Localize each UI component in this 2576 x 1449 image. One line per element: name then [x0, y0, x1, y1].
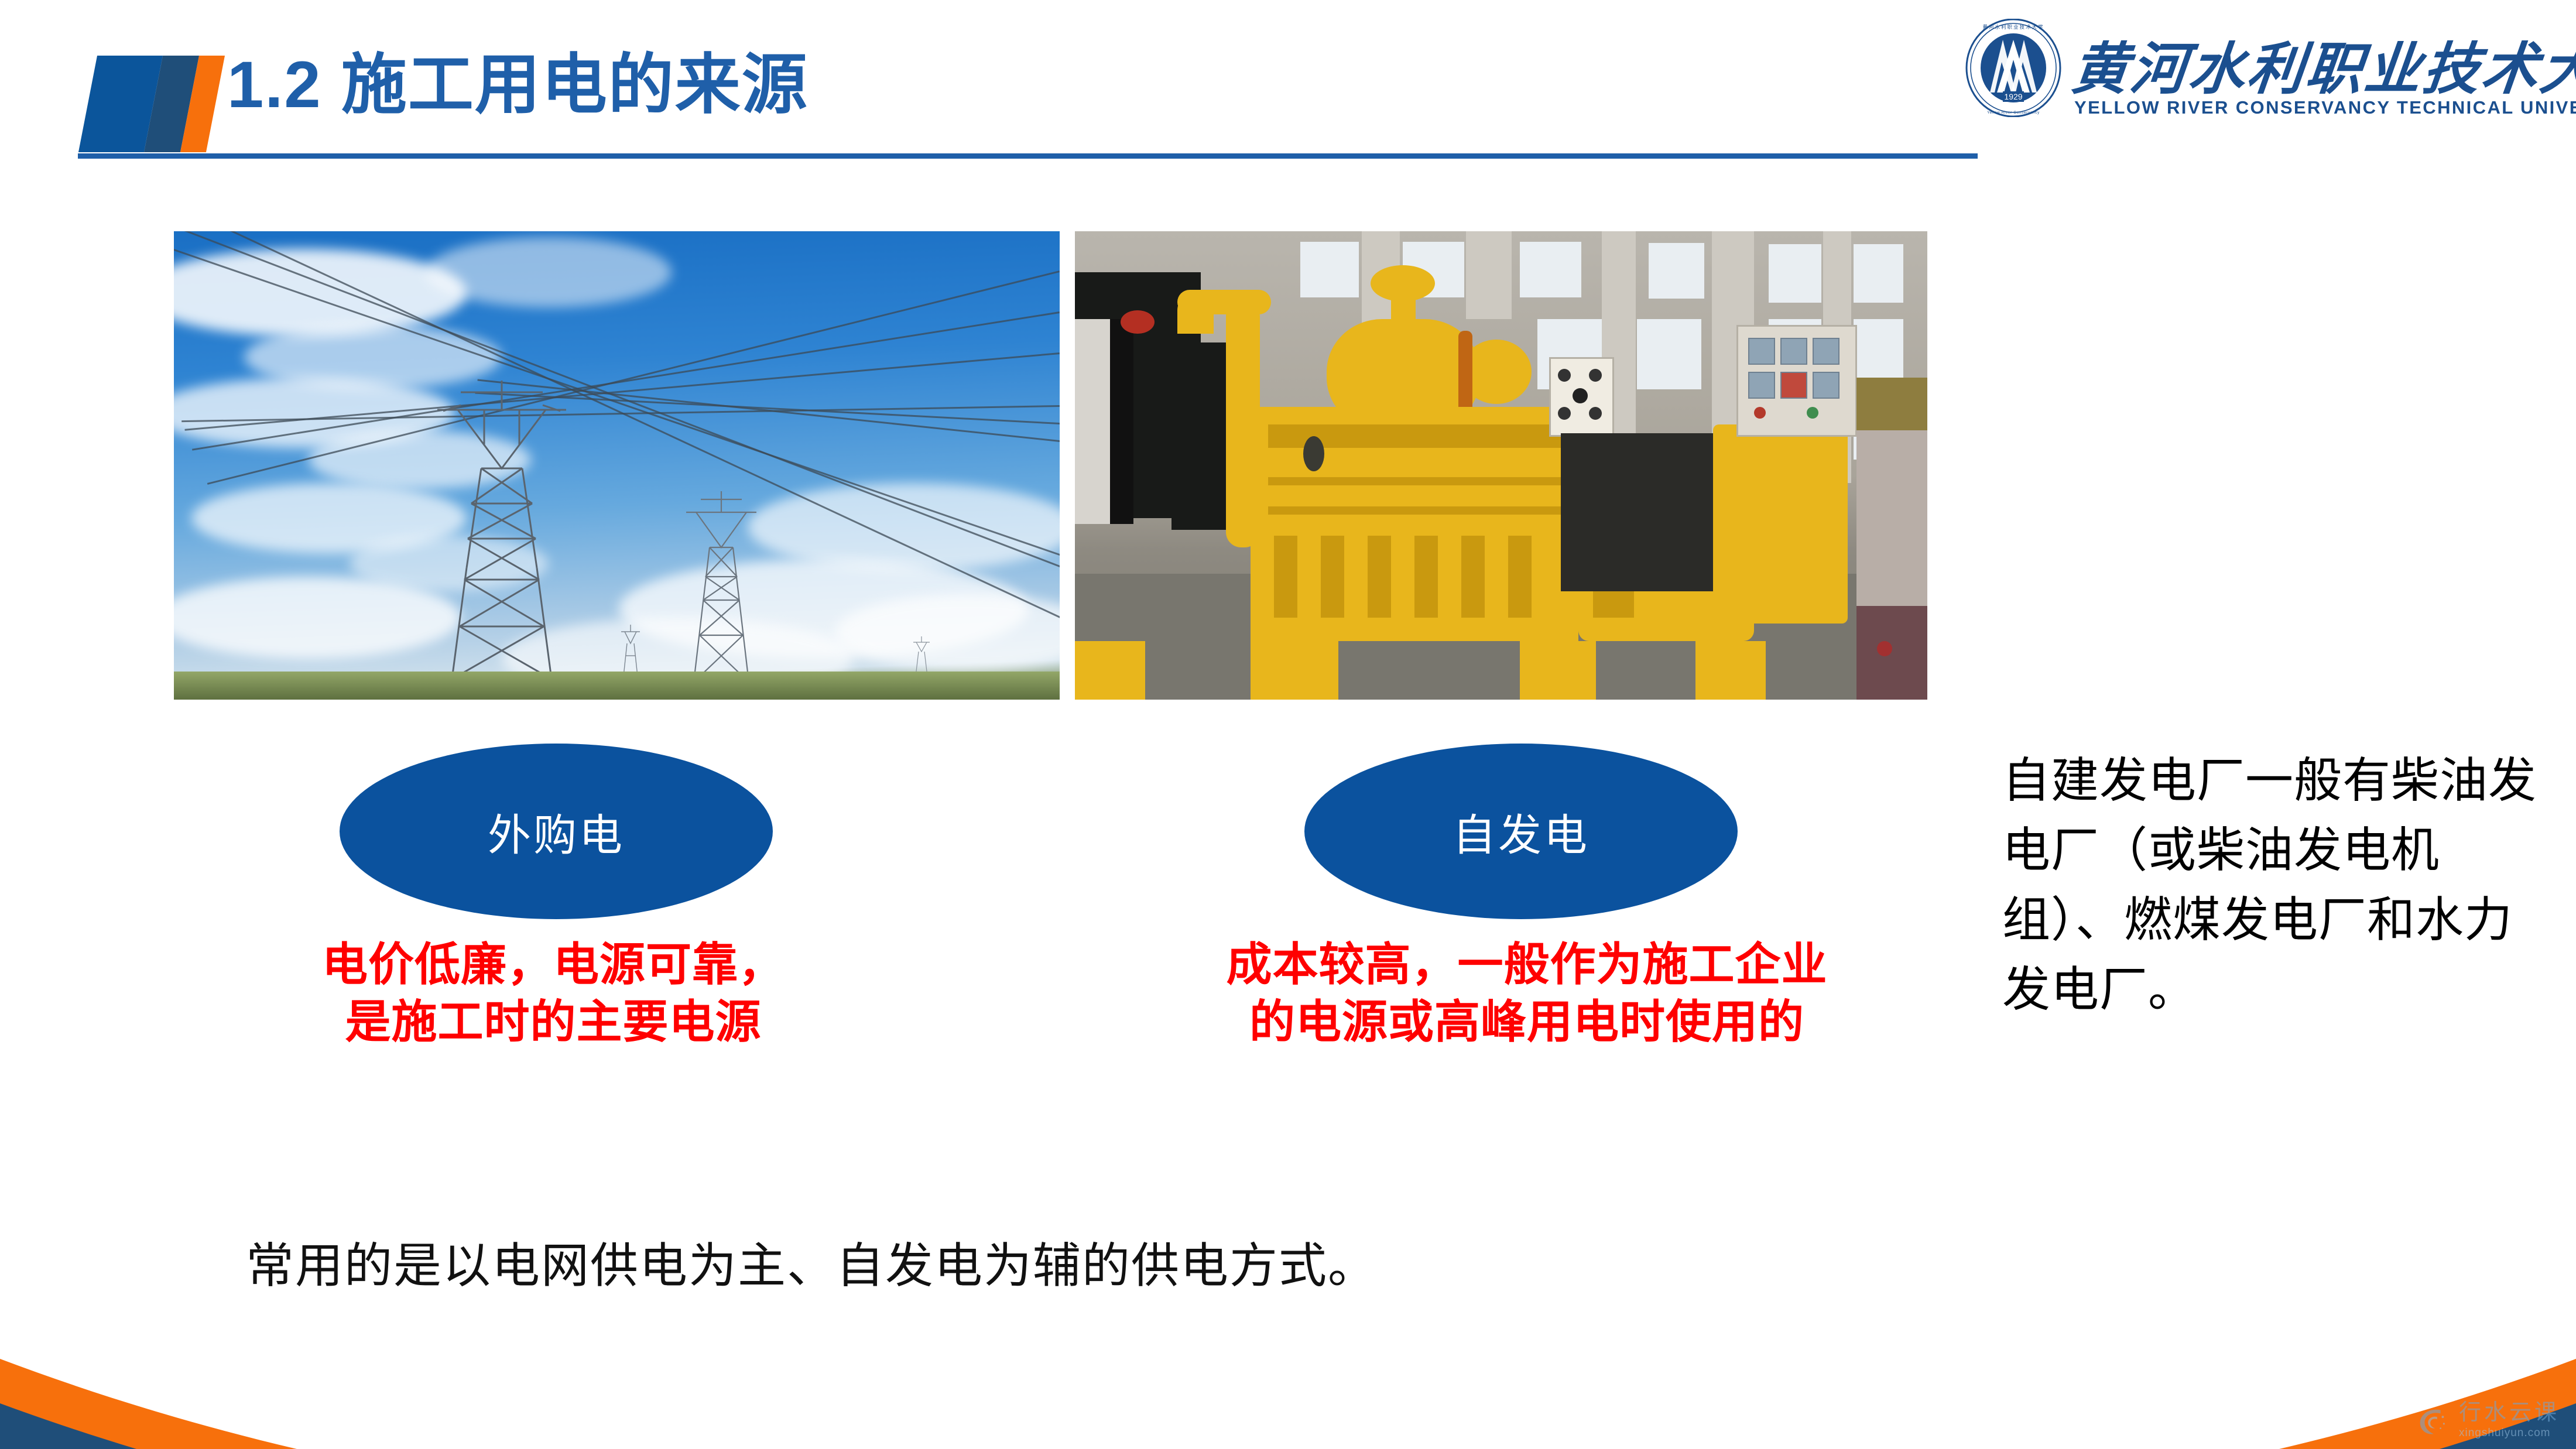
svg-text:Yellow River Conservancy: Yellow River Conservancy — [1987, 111, 2040, 115]
photo-ground-strip — [174, 672, 1060, 700]
page-title: 1.2 施工用电的来源 — [227, 46, 809, 124]
title-underline — [78, 153, 1978, 159]
logo-name-en: YELLOW RIVER CONSERVANCY TECHNICAL UNIVE… — [2074, 97, 2576, 118]
university-logo: 1929 黄河水利职业技术大学 Yellow River Conservancy… — [1964, 18, 2550, 120]
transmission-tower-distant-2 — [912, 635, 931, 676]
ellipse-label-text: 自发电 — [1453, 800, 1590, 863]
photo-diesel-generator-set — [1075, 231, 1927, 700]
title-accent-bars — [88, 56, 240, 152]
svg-text:黄河水利职业技术大学: 黄河水利职业技术大学 — [1982, 24, 2044, 30]
logo-name-cn: 黄河水利职业技术大学 — [2068, 23, 2576, 105]
transmission-tower-distant-1 — [619, 624, 642, 676]
slide: 1.2 施工用电的来源 1929 黄河水利职业技术大学 Yellow River… — [0, 0, 2576, 1449]
summary-sentence: 常用的是以电网供电为主、自发电为辅的供电方式。 — [246, 1227, 1377, 1296]
watermark: 行水云课 xingshuiyun.com — [2414, 1402, 2560, 1438]
watermark-name-en: xingshuiyun.com — [2459, 1427, 2560, 1438]
label-ellipse-purchased-power[interactable]: 外购电 — [340, 744, 773, 919]
red-note-line-2: 是施工时的主要电源 — [193, 993, 913, 1050]
footer-decoration: 行水云课 xingshuiyun.com — [0, 1303, 2576, 1449]
footer-wave-shape — [0, 1303, 2576, 1449]
red-note-line-2: 的电源或高峰用电时使用的 — [1070, 993, 1984, 1050]
red-note-self-generation: 成本较高，一般作为施工企业 的电源或高峰用电时使用的 — [1070, 936, 1984, 1051]
logo-emblem-icon: 1929 黄河水利职业技术大学 Yellow River Conservancy — [1964, 19, 2063, 117]
transmission-tower-near — [426, 375, 578, 679]
watermark-name-cn: 行水云课 — [2459, 1402, 2560, 1424]
svg-text:1929: 1929 — [2004, 92, 2022, 101]
red-note-line-1: 成本较高，一般作为施工企业 — [1070, 936, 1984, 993]
red-note-line-1: 电价低廉，电源可靠， — [193, 936, 913, 993]
wave-icon — [2414, 1402, 2451, 1438]
transmission-tower-far — [677, 489, 765, 682]
label-ellipse-self-generation[interactable]: 自发电 — [1304, 744, 1738, 919]
red-note-purchased-power: 电价低廉，电源可靠， 是施工时的主要电源 — [193, 936, 913, 1051]
right-side-paragraph: 自建发电厂一般有柴油发电厂（或柴油发电机组）、燃煤发电厂和水力发电厂。 — [2002, 746, 2547, 1025]
ellipse-label-text: 外购电 — [488, 800, 625, 863]
photo-power-transmission-towers — [174, 231, 1060, 700]
